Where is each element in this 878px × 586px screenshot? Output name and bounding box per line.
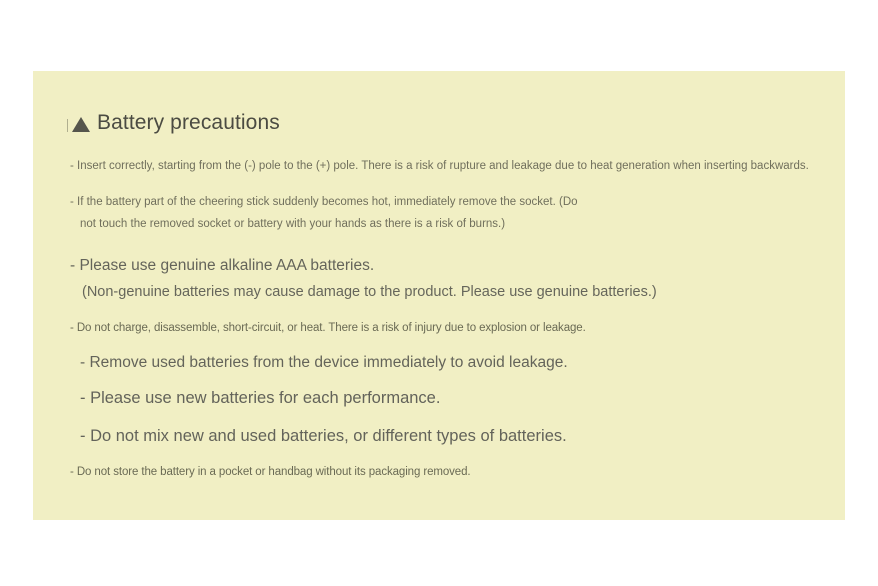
precaution-genuine-alkaline: - Please use genuine alkaline AAA batter… [70,256,830,275]
precaution-remove-used-batteries: - Remove used batteries from the device … [70,353,830,372]
precautions-list: - Insert correctly, starting from the (-… [70,159,830,479]
precaution-overheating-line-1: - If the battery part of the cheering st… [70,195,830,209]
page-root: Battery precautions - Insert correctly, … [0,0,878,586]
warning-triangle-icon [72,117,90,132]
precaution-insert-correctly: - Insert correctly, starting from the (-… [70,159,830,173]
battery-precautions-panel: Battery precautions - Insert correctly, … [33,71,845,520]
precaution-do-not-mix: - Do not mix new and used batteries, or … [70,426,830,446]
precaution-do-not-charge: - Do not charge, disassemble, short-circ… [70,321,830,335]
precaution-genuine-alkaline-note: (Non-genuine batteries may cause damage … [70,283,830,301]
precaution-do-not-store-in-pocket: - Do not store the battery in a pocket o… [70,465,830,479]
panel-header: Battery precautions [67,109,280,137]
page-title: Battery precautions [97,111,280,135]
stray-tick-mark [67,119,68,132]
precaution-overheating-line-2: not touch the removed socket or battery … [70,217,830,231]
precaution-new-batteries-each-performance: - Please use new batteries for each perf… [70,388,830,408]
